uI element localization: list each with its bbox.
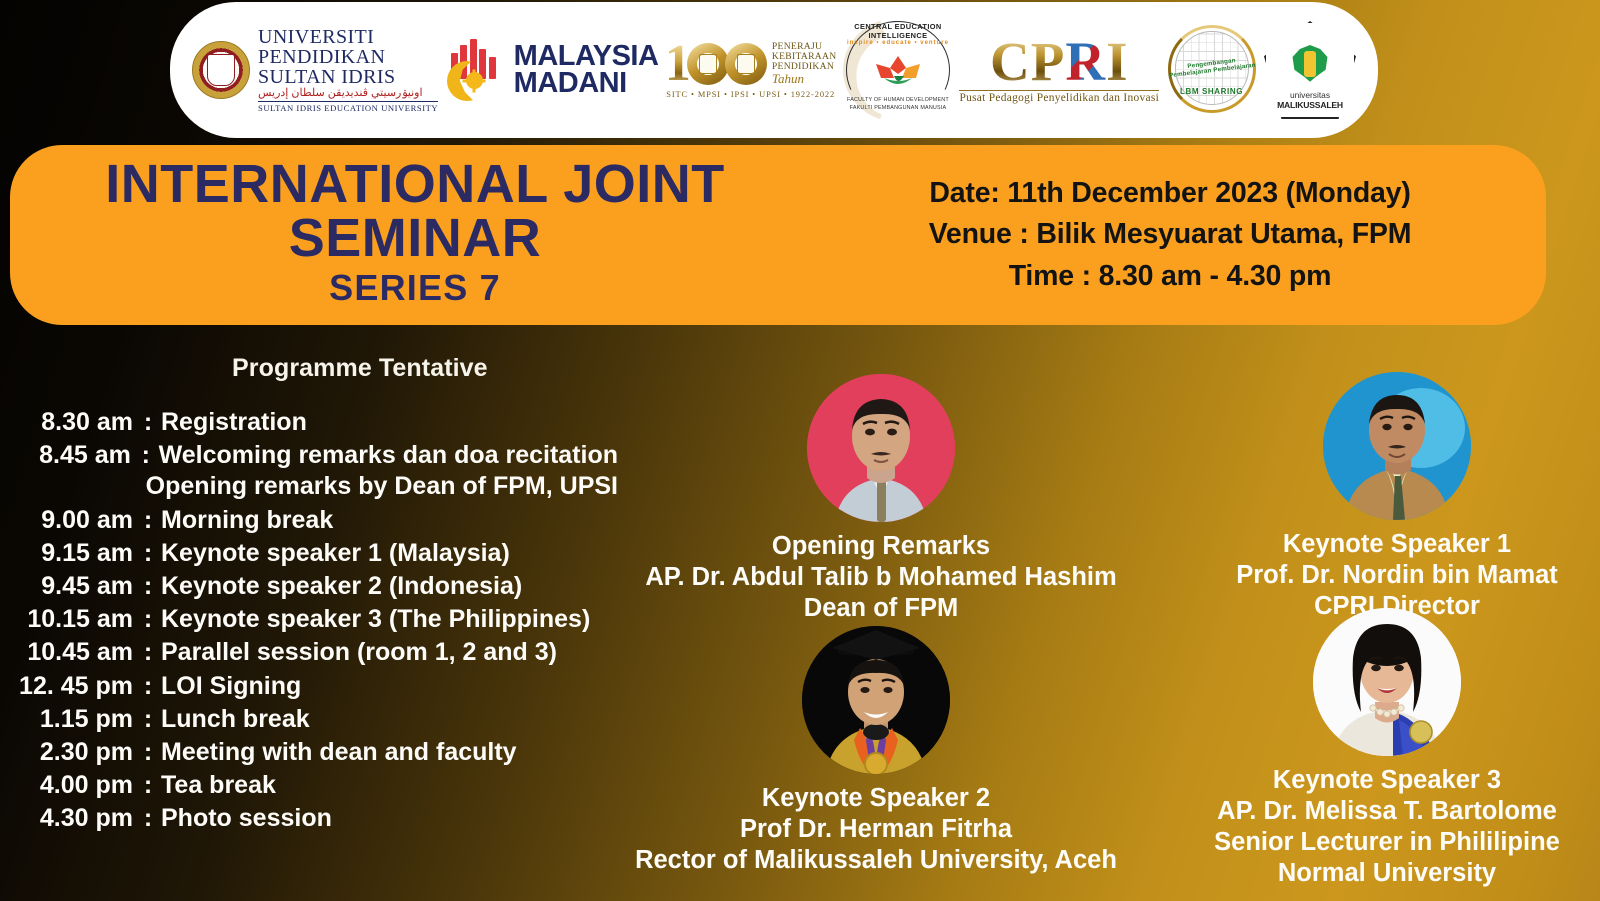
madani-line1: MALAYSIA <box>514 43 659 70</box>
schedule-colon: : <box>140 640 156 665</box>
speaker-affiliation: Dean of FPM <box>641 593 1121 624</box>
speaker-affiliation-line2: Normal University <box>1182 858 1592 889</box>
schedule-colon: : <box>140 806 156 831</box>
schedule-activity: Keynote speaker 3 (The Philippines) <box>156 607 590 632</box>
upsi-line2: PENDIDIKAN <box>258 47 438 67</box>
schedule-activity: Photo session <box>156 806 332 831</box>
seminar-poster: UNIVERSITI PENDIDIKAN SULTAN IDRIS اونيۏ… <box>0 0 1600 901</box>
madani-line2: MADANI <box>514 70 659 97</box>
schedule-row: 9.00 am : Morning break <box>18 508 618 533</box>
schedule-colon: : <box>140 674 156 699</box>
schedule-row-continuation: Opening remarks by Dean of FPM, UPSI <box>18 474 618 499</box>
speaker-name: Prof Dr. Herman Fitrha <box>631 814 1121 845</box>
schedule-colon: : <box>140 574 156 599</box>
schedule-row: 8.45 am : Welcoming remarks dan doa reci… <box>18 443 618 468</box>
portrait-nordin-mamat <box>1323 372 1471 520</box>
speaker-caption: Opening Remarks AP. Dr. Abdul Talib b Mo… <box>641 531 1121 624</box>
schedule-row: 10.45 am : Parallel session (room 1, 2 a… <box>18 640 618 665</box>
upsi-crest-icon <box>192 41 250 99</box>
seminar-title-block: INTERNATIONAL JOINT SEMINAR SERIES 7 <box>10 158 810 312</box>
cpri-logo: CPRI Pusat Pedagogi Penyelidikan dan Ino… <box>959 36 1159 103</box>
schedule-time: 2.30 pm <box>18 740 140 765</box>
schedule-colon: : <box>140 773 156 798</box>
speaker-card-keynote-1: Keynote Speaker 1 Prof. Dr. Nordin bin M… <box>1192 372 1600 622</box>
schedule-row: 10.15 am : Keynote speaker 3 (The Philip… <box>18 607 618 632</box>
upsi-logo: UNIVERSITI PENDIDIKAN SULTAN IDRIS اونيۏ… <box>192 27 438 113</box>
schedule-row: 9.45 am : Keynote speaker 2 (Indonesia) <box>18 574 618 599</box>
cei-tagline: inspire • educate • venture <box>843 40 953 46</box>
universitas-malikussaleh-logo: universitas MALIKUSSALEH <box>1264 21 1356 119</box>
seminar-title-line2: SEMINAR <box>20 212 810 265</box>
avatar <box>1323 372 1471 520</box>
cei-bird-icon <box>872 52 924 92</box>
schedule-time: 8.45 am <box>18 443 138 468</box>
speaker-caption: Keynote Speaker 3 AP. Dr. Melissa T. Bar… <box>1182 765 1592 889</box>
portrait-melissa-bartolome <box>1313 608 1461 756</box>
upsi-line1: UNIVERSITI <box>258 27 438 47</box>
schedule-activity: Lunch break <box>156 707 310 732</box>
seminar-series-label: SERIES 7 <box>20 265 810 312</box>
hundred-tahun: Tahun <box>772 72 837 86</box>
malikussaleh-line1: universitas <box>1264 90 1356 100</box>
cei-title: CENTRAL EDUCATION INTELLIGENCE <box>843 22 953 40</box>
schedule-time: 9.00 am <box>18 508 140 533</box>
event-time: Time : 8.30 am - 4.30 pm <box>810 256 1530 297</box>
cpri-subtitle: Pusat Pedagogi Penyelidikan dan Inovasi <box>959 90 1159 104</box>
schedule-activity: Parallel session (room 1, 2 and 3) <box>156 640 557 665</box>
schedule-time: 12. 45 pm <box>18 674 140 699</box>
malikussaleh-line2: MALIKUSSALEH <box>1264 100 1356 110</box>
speaker-role: Keynote Speaker 3 <box>1182 765 1592 796</box>
event-details-block: Date: 11th December 2023 (Monday) Venue … <box>810 173 1546 296</box>
speaker-name: AP. Dr. Abdul Talib b Mohamed Hashim <box>641 562 1121 593</box>
schedule-time: 10.15 am <box>18 607 140 632</box>
cei-logo: CENTRAL EDUCATION INTELLIGENCE inspire •… <box>843 18 953 122</box>
schedule-colon: : <box>138 443 154 468</box>
speaker-affiliation: Rector of Malikussaleh University, Aceh <box>631 845 1121 876</box>
schedule-time: 9.45 am <box>18 574 140 599</box>
schedule-colon: : <box>140 607 156 632</box>
schedule-time: 4.00 pm <box>18 773 140 798</box>
seminar-title-line1: INTERNATIONAL JOINT <box>20 158 810 211</box>
avatar <box>1313 608 1461 756</box>
speaker-card-opening-remarks: Opening Remarks AP. Dr. Abdul Talib b Mo… <box>641 374 1121 624</box>
schedule-time: 8.30 am <box>18 410 140 435</box>
speaker-affiliation-line1: Senior Lecturer in Phililipine <box>1182 827 1592 858</box>
hundred-zero-1-icon <box>687 43 729 85</box>
cei-subtitle: FACULTY OF HUMAN DEVELOPMENT FAKULTI PEM… <box>843 97 953 113</box>
upsi-jawi-text: اونيۏرسيتي ڤنديديقن سلطان إدريس <box>258 88 438 99</box>
malaysia-madani-logo: MALAYSIA MADANI <box>445 39 659 101</box>
event-venue: Venue : Bilik Mesyuarat Utama, FPM <box>810 214 1530 255</box>
schedule-activity: Meeting with dean and faculty <box>156 740 517 765</box>
avatar <box>807 374 955 522</box>
lbm-label: LBM SHARING <box>1166 87 1258 96</box>
speaker-role: Keynote Speaker 2 <box>631 783 1121 814</box>
torch-icon <box>1304 51 1316 77</box>
hundred-zero-2-icon <box>725 43 767 85</box>
schedule-time: 10.45 am <box>18 640 140 665</box>
speaker-name: Prof. Dr. Nordin bin Mamat <box>1192 560 1600 591</box>
schedule-row: 8.30 am : Registration <box>18 410 618 435</box>
schedule-time: 9.15 am <box>18 541 140 566</box>
schedule-activity: Welcoming remarks dan doa recitation <box>154 443 618 468</box>
avatar <box>802 626 950 774</box>
speaker-name: AP. Dr. Melissa T. Bartolome <box>1182 796 1592 827</box>
schedule-row: 2.30 pm : Meeting with dean and faculty <box>18 740 618 765</box>
schedule-row: 1.15 pm : Lunch break <box>18 707 618 732</box>
speaker-card-keynote-3: Keynote Speaker 3 AP. Dr. Melissa T. Bar… <box>1182 608 1592 889</box>
portrait-abdul-talib <box>807 374 955 522</box>
speaker-role: Opening Remarks <box>641 531 1121 562</box>
schedule-colon: : <box>140 410 156 435</box>
schedule-activity: Keynote speaker 2 (Indonesia) <box>156 574 522 599</box>
cpri-letters-gold-2: I <box>1106 31 1128 92</box>
schedule-time: 1.15 pm <box>18 707 140 732</box>
madani-emblem-icon <box>445 39 507 101</box>
schedule-time: 4.30 pm <box>18 806 140 831</box>
schedule-row: 9.15 am : Keynote speaker 1 (Malaysia) <box>18 541 618 566</box>
cpri-letters-gold-1: CP <box>990 31 1065 92</box>
portrait-herman-fitrha <box>802 626 950 774</box>
schedule-activity: Registration <box>156 410 307 435</box>
sponsor-logo-bar: UNIVERSITI PENDIDIKAN SULTAN IDRIS اونيۏ… <box>170 2 1378 138</box>
schedule-colon: : <box>140 740 156 765</box>
schedule-colon: : <box>140 541 156 566</box>
schedule-activity: Keynote speaker 1 (Malaysia) <box>156 541 510 566</box>
schedule-activity: LOI Signing <box>156 674 301 699</box>
schedule-activity: Tea break <box>156 773 276 798</box>
speaker-caption: Keynote Speaker 2 Prof Dr. Herman Fitrha… <box>631 783 1121 876</box>
upsi-english-name: SULTAN IDRIS EDUCATION UNIVERSITY <box>258 101 438 113</box>
hundred-footer: SITC • MPSI • IPSI • UPSI • 1922-2022 <box>666 90 835 99</box>
schedule-activity: Opening remarks by Dean of FPM, UPSI <box>135 474 618 499</box>
programme-schedule: 8.30 am : Registration 8.45 am : Welcomi… <box>18 410 618 839</box>
event-date: Date: 11th December 2023 (Monday) <box>810 173 1530 214</box>
lbm-sharing-logo: Pengembangan Pembelajaran Pembelajaran L… <box>1166 24 1258 116</box>
schedule-row: 12. 45 pm : LOI Signing <box>18 674 618 699</box>
speaker-role: Keynote Speaker 1 <box>1192 529 1600 560</box>
programme-heading: Programme Tentative <box>232 354 488 383</box>
speaker-card-keynote-2: Keynote Speaker 2 Prof Dr. Herman Fitrha… <box>631 626 1121 876</box>
upsi-line3: SULTAN IDRIS <box>258 67 438 87</box>
cpri-letter-r: R <box>1065 31 1106 92</box>
schedule-row: 4.00 pm : Tea break <box>18 773 618 798</box>
schedule-row: 4.30 pm : Photo session <box>18 806 618 831</box>
schedule-colon: : <box>140 707 156 732</box>
schedule-colon: : <box>140 508 156 533</box>
title-banner: INTERNATIONAL JOINT SEMINAR SERIES 7 Dat… <box>10 145 1546 325</box>
upsi-100-years-logo: 1 PENERAJU KEBITARAAN PENDIDIKAN Tahun S… <box>665 41 837 100</box>
schedule-activity: Morning break <box>156 508 333 533</box>
